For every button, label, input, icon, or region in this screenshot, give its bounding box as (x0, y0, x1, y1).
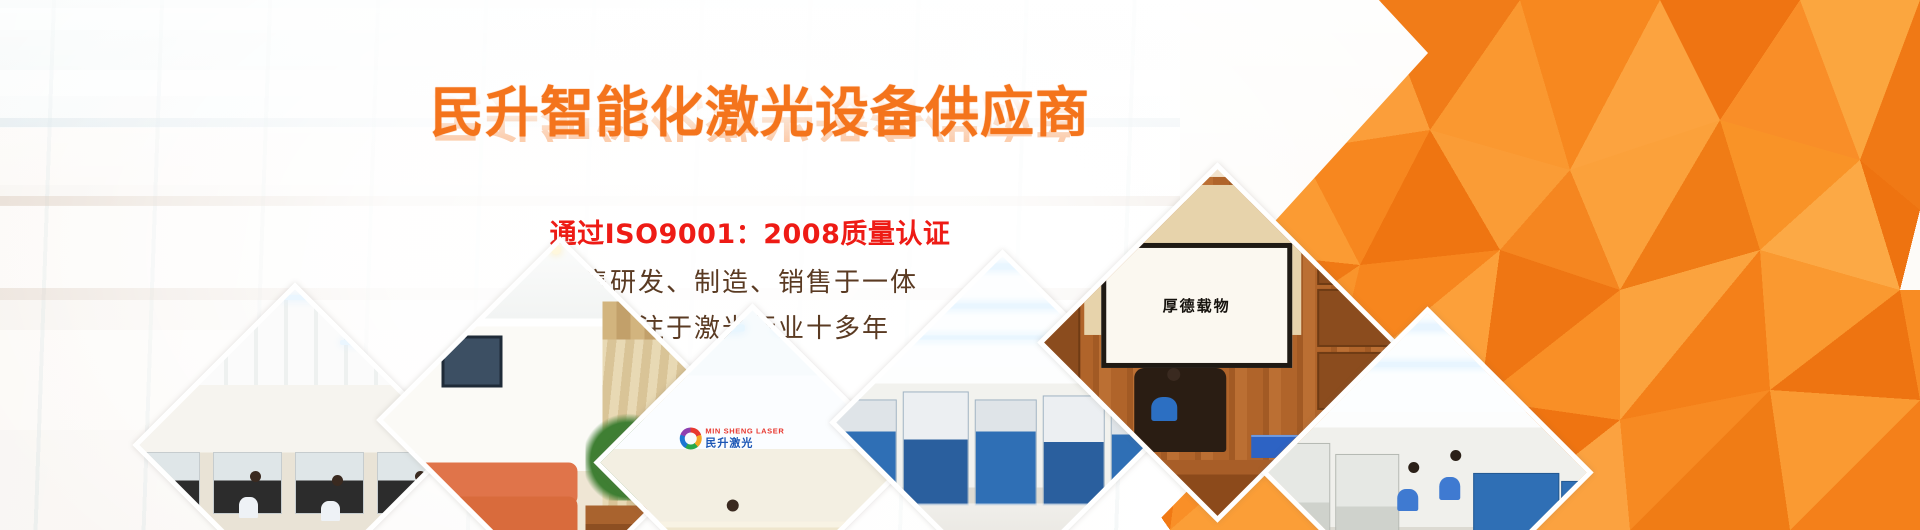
employee-body (239, 497, 258, 518)
worker-body (1397, 488, 1418, 510)
laser-machine (903, 391, 969, 505)
laser-machine (975, 399, 1037, 505)
ms-logo-ring-icon (679, 427, 701, 449)
receptionist-head (727, 499, 739, 511)
worker-head (1408, 461, 1419, 472)
executive-chair (1134, 367, 1226, 450)
reception-wall-logo: MIN SHENG LASER 民升激光 (679, 426, 784, 449)
banner-headline-reflection: 民升智能化激光设备供应商 (430, 88, 1070, 142)
iso-certification-text: 通过ISO9001：2008质量认证 (430, 212, 1070, 251)
logo-chinese-name: 民升激光 (705, 435, 784, 449)
calligraphy-text: 厚德载物 (1163, 295, 1231, 316)
headline-block: 民升智能化激光设备供应商 民升智能化激光设备供应商 (430, 86, 1070, 196)
executive-body (1151, 397, 1177, 421)
executive-head (1168, 367, 1181, 380)
worker-body (1439, 476, 1460, 499)
calligraphy-frame: 厚德载物 (1101, 243, 1293, 368)
logo-english-name: MIN SHENG LASER (705, 426, 784, 435)
laser-machine (1042, 395, 1104, 505)
worker-head (1450, 450, 1461, 461)
employee-body (321, 501, 340, 521)
company-hero-banner: 民升智能化激光设备供应商 民升智能化激光设备供应商 通过ISO9001：2008… (0, 0, 1920, 530)
cnc-machine (1336, 453, 1399, 530)
